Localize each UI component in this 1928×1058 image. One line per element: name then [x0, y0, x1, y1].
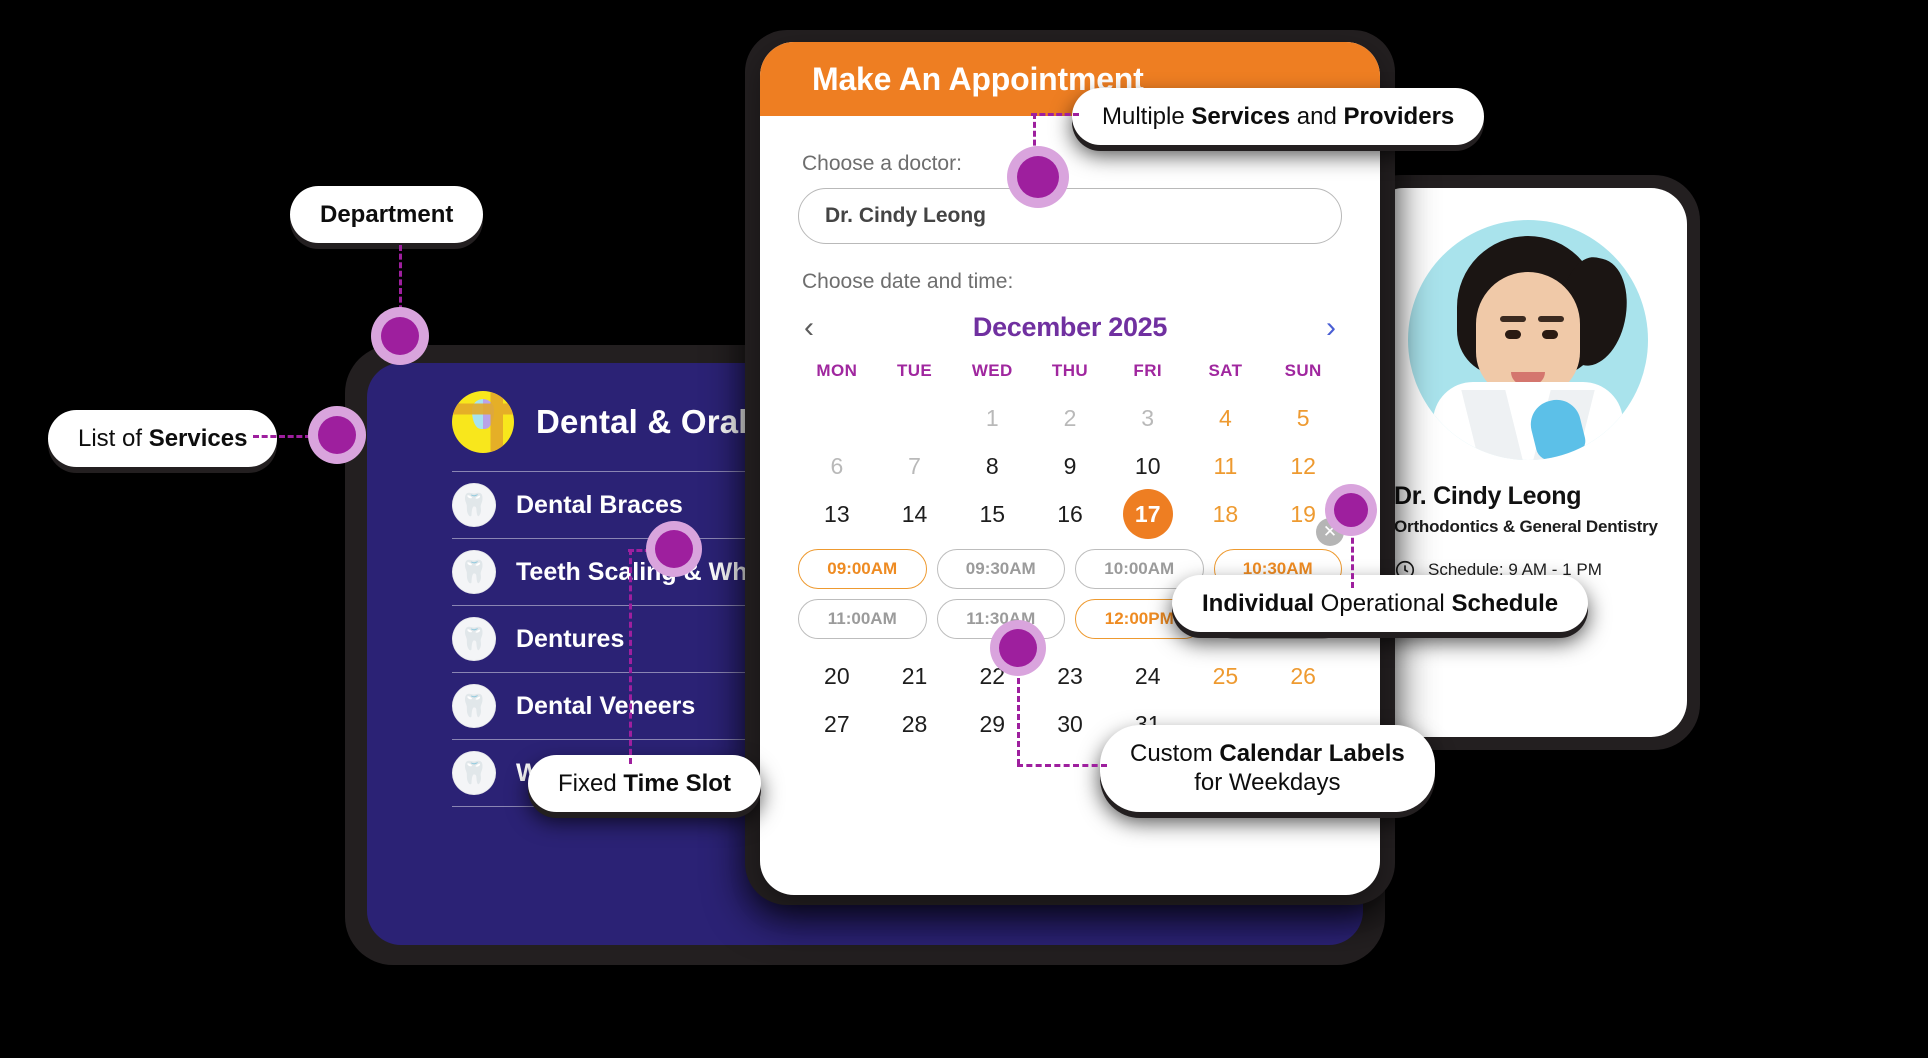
choose-doctor-label: Choose a doctor: — [802, 152, 1342, 176]
callout-timeslot-bold: Time Slot — [623, 770, 731, 797]
callout-calendar-labels: Custom Calendar Labels for Weekdays — [1100, 725, 1435, 812]
calendar-day-number: 10 — [1135, 453, 1161, 480]
calendar-day[interactable]: 25 — [1187, 653, 1265, 699]
hotspot-schedule[interactable] — [1325, 484, 1377, 536]
calendar-day[interactable]: 5 — [1264, 395, 1342, 441]
calendar-day-number: 29 — [979, 711, 1005, 738]
calendar-day[interactable]: 17 — [1109, 491, 1187, 537]
calendar-day-number: 15 — [979, 501, 1005, 528]
callout-department: Department — [290, 186, 483, 243]
phone-device-frame: Dr. Cindy Leong Orthodontics & General D… — [1355, 175, 1700, 750]
doctor-select-value: Dr. Cindy Leong — [825, 204, 986, 228]
callout-time-slot: Fixed Time Slot — [528, 755, 761, 812]
dentures-icon: 🦷 — [452, 617, 496, 661]
connector-calendar-h — [1017, 764, 1107, 767]
calendar-day-number: 30 — [1057, 711, 1083, 738]
calendar-nav: ‹ December 2025 › — [798, 312, 1342, 343]
calendar-day-number: 26 — [1290, 663, 1316, 690]
time-slot[interactable]: 09:00AM — [798, 549, 927, 589]
sparkle-tooth-icon: 🦷 — [452, 550, 496, 594]
calendar-month-title: December 2025 — [973, 312, 1167, 343]
service-label: Dentures — [516, 625, 624, 654]
next-month-button[interactable]: › — [1326, 313, 1336, 343]
callout-calendar-line2: for Weekdays — [1194, 769, 1340, 796]
calendar-day-number: 4 — [1219, 405, 1232, 432]
calendar-day-number: 13 — [824, 501, 850, 528]
calendar-weekday-sun: SUN — [1264, 361, 1342, 381]
calendar-weekday-tue: TUE — [876, 361, 954, 381]
callout-services-pre: List of — [78, 425, 149, 452]
calendar-day[interactable]: 20 — [798, 653, 876, 699]
calendar-day-number: 6 — [830, 453, 843, 480]
calendar-day-number: 28 — [902, 711, 928, 738]
calendar-day[interactable]: 4 — [1187, 395, 1265, 441]
calendar-day-number: 12 — [1290, 453, 1316, 480]
calendar-day[interactable]: 24 — [1109, 653, 1187, 699]
doctor-avatar — [1408, 220, 1648, 460]
calendar-day[interactable]: 12 — [1264, 443, 1342, 489]
calendar-weekday-wed: WED — [953, 361, 1031, 381]
calendar-day-number: 5 — [1297, 405, 1310, 432]
calendar-day[interactable]: 18 — [1187, 491, 1265, 537]
calendar-day-number: 23 — [1057, 663, 1083, 690]
callout-multiple-mid: and — [1290, 103, 1343, 130]
tooth-scan-icon — [452, 391, 514, 453]
calendar-day-number: 17 — [1123, 489, 1173, 539]
connector-timeslot-v — [629, 549, 632, 764]
prev-month-button[interactable]: ‹ — [804, 313, 814, 343]
callout-services: List of Services — [48, 410, 277, 467]
choose-datetime-label: Choose date and time: — [802, 270, 1342, 294]
calendar-day-number: 18 — [1213, 501, 1239, 528]
hotspot-doctor-select[interactable] — [1007, 146, 1069, 208]
time-slot[interactable]: 11:00AM — [798, 599, 927, 639]
calendar-day[interactable]: 2 — [1031, 395, 1109, 441]
calendar-day[interactable]: 8 — [953, 443, 1031, 489]
calendar-grid-top: 12345678910111213141516171819 — [798, 395, 1342, 537]
callout-services-bold: Services — [149, 425, 248, 452]
appointment-card-body: Choose a doctor: Dr. Cindy Leong Choose … — [760, 116, 1380, 747]
braces-tooth-icon: 🦷 — [452, 483, 496, 527]
doctor-name: Dr. Cindy Leong — [1394, 482, 1661, 511]
calendar-day[interactable]: 26 — [1264, 653, 1342, 699]
calendar-day[interactable]: 9 — [1031, 443, 1109, 489]
doctor-profile-screen: Dr. Cindy Leong Orthodontics & General D… — [1368, 188, 1687, 737]
hotspot-services[interactable] — [308, 406, 366, 464]
calendar-day-number: 11 — [1213, 453, 1237, 480]
calendar-weekday-fri: FRI — [1109, 361, 1187, 381]
connector-multiple-h — [1031, 113, 1079, 116]
service-label: Dental Veneers — [516, 692, 695, 721]
calendar-day-number: 14 — [902, 501, 928, 528]
callout-multiple-bold2: Providers — [1344, 103, 1455, 130]
calendar-day[interactable]: 10 — [1109, 443, 1187, 489]
calendar-day-number: 21 — [902, 663, 928, 690]
veneers-icon: 🦷 — [452, 684, 496, 728]
calendar-day[interactable]: 7 — [876, 443, 954, 489]
callout-multiple-bold: Services — [1191, 103, 1290, 130]
callout-timeslot-pre: Fixed — [558, 770, 623, 797]
callout-multiple-pre: Multiple — [1102, 103, 1191, 130]
calendar-day-number: 3 — [1141, 405, 1154, 432]
callout-individual-mid: Operational — [1314, 590, 1451, 617]
calendar-day[interactable]: 21 — [876, 653, 954, 699]
callout-calendar-pre: Custom — [1130, 740, 1219, 767]
calendar-day-number: 7 — [908, 453, 921, 480]
calendar-day-number: 8 — [986, 453, 999, 480]
calendar-day-number: 9 — [1064, 453, 1077, 480]
calendar-day[interactable]: 1 — [953, 395, 1031, 441]
calendar-day[interactable]: 15 — [953, 491, 1031, 537]
calendar-day-number: 24 — [1135, 663, 1161, 690]
doctor-select[interactable]: Dr. Cindy Leong — [798, 188, 1342, 244]
calendar-day-number: 1 — [986, 405, 999, 432]
calendar-day[interactable]: 11 — [1187, 443, 1265, 489]
calendar-weekday-thu: THU — [1031, 361, 1109, 381]
calendar-day[interactable]: 3 — [1109, 395, 1187, 441]
wisdom-tooth-icon: 🦷 — [452, 751, 496, 795]
calendar-day[interactable]: 27 — [798, 701, 876, 747]
calendar-weekday-header: MONTUEWEDTHUFRISATSUN — [798, 361, 1342, 381]
callout-individual-schedule: Individual Operational Schedule — [1172, 575, 1588, 632]
calendar-day[interactable]: 16 — [1031, 491, 1109, 537]
service-label: Dental Braces — [516, 491, 683, 520]
callout-individual-bold2: Schedule — [1451, 590, 1558, 617]
calendar-day-number: 27 — [824, 711, 850, 738]
hotspot-calendar-labels[interactable] — [990, 620, 1046, 676]
callout-multiple-services: Multiple Services and Providers — [1072, 88, 1484, 145]
callout-calendar-bold: Calendar Labels — [1219, 740, 1404, 767]
callout-department-text: Department — [320, 201, 453, 228]
calendar-weekday-sat: SAT — [1187, 361, 1265, 381]
doctor-specialty: Orthodontics & General Dentistry — [1394, 517, 1661, 537]
calendar-weekday-mon: MON — [798, 361, 876, 381]
hotspot-department[interactable] — [371, 307, 429, 365]
calendar-day-number: 20 — [824, 663, 850, 690]
calendar-day-number: 19 — [1290, 501, 1316, 528]
hotspot-time-slot[interactable] — [646, 521, 702, 577]
calendar-day[interactable]: 6 — [798, 443, 876, 489]
calendar-day-number: 25 — [1213, 663, 1239, 690]
calendar-day-number: 16 — [1057, 501, 1083, 528]
calendar-day[interactable]: 30 — [1031, 701, 1109, 747]
time-slot[interactable]: 09:30AM — [937, 549, 1066, 589]
screenshot-stage: Dental & Oral Surgery 🦷Dental Braces🦷Tee… — [0, 0, 1928, 1058]
calendar-day-number: 2 — [1064, 405, 1077, 432]
calendar-day[interactable]: 13 — [798, 491, 876, 537]
calendar-day[interactable]: 14 — [876, 491, 954, 537]
calendar-day[interactable]: 28 — [876, 701, 954, 747]
callout-individual-bold: Individual — [1202, 590, 1314, 617]
